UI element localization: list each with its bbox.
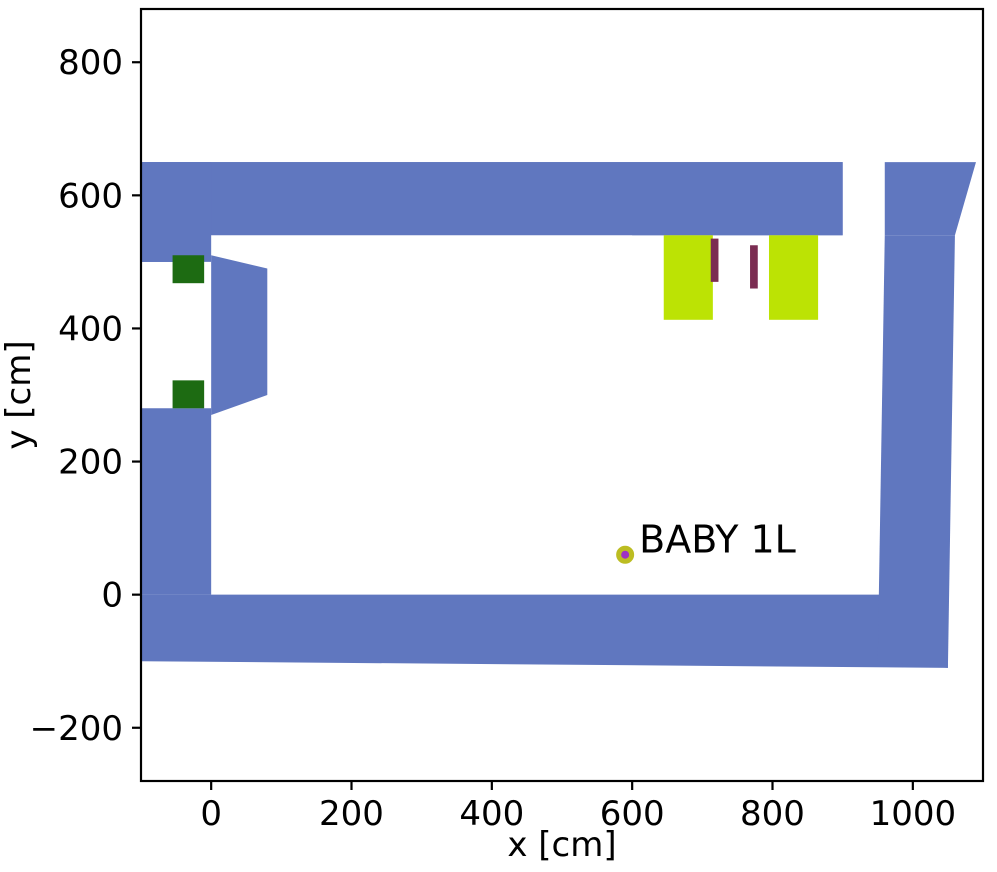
pillar-left [711, 239, 719, 282]
door-left-lower [173, 380, 205, 408]
wall-left-vertical-lower [141, 408, 211, 594]
ytick-label-2: 200 [58, 443, 123, 483]
door-left-upper [173, 255, 205, 283]
ytick-label-3: 400 [58, 309, 123, 349]
floorplan-svg: BABY 1L 02004006008001000−20002004006008… [0, 0, 997, 872]
x-axis-title: x [cm] [507, 825, 616, 865]
xtick-label-0: 0 [200, 794, 222, 834]
ytick-label-0: −200 [30, 709, 123, 749]
ytick-label-4: 600 [58, 176, 123, 216]
pillar-right [750, 245, 758, 288]
y-axis-title: y [cm] [0, 340, 39, 449]
wall-left-vertical-upper [141, 162, 211, 262]
xtick-label-4: 800 [740, 794, 805, 834]
annotation-label-0: BABY 1L [639, 518, 796, 562]
wall-right-vertical [878, 235, 955, 668]
wall-bottom-band [141, 595, 948, 668]
xtick-label-1: 200 [319, 794, 384, 834]
xtick-label-5: 1000 [870, 794, 957, 834]
floorplan-figure: BABY 1L 02004006008001000−20002004006008… [0, 0, 997, 872]
window-right [769, 235, 818, 320]
window-left [664, 235, 713, 320]
wall-left-alcove [211, 255, 267, 415]
ytick-label-5: 800 [58, 43, 123, 83]
ytick-label-1: 0 [101, 576, 123, 616]
annotations-layer: BABY 1L [619, 518, 796, 562]
annotation-marker-0[interactable] [619, 548, 632, 561]
